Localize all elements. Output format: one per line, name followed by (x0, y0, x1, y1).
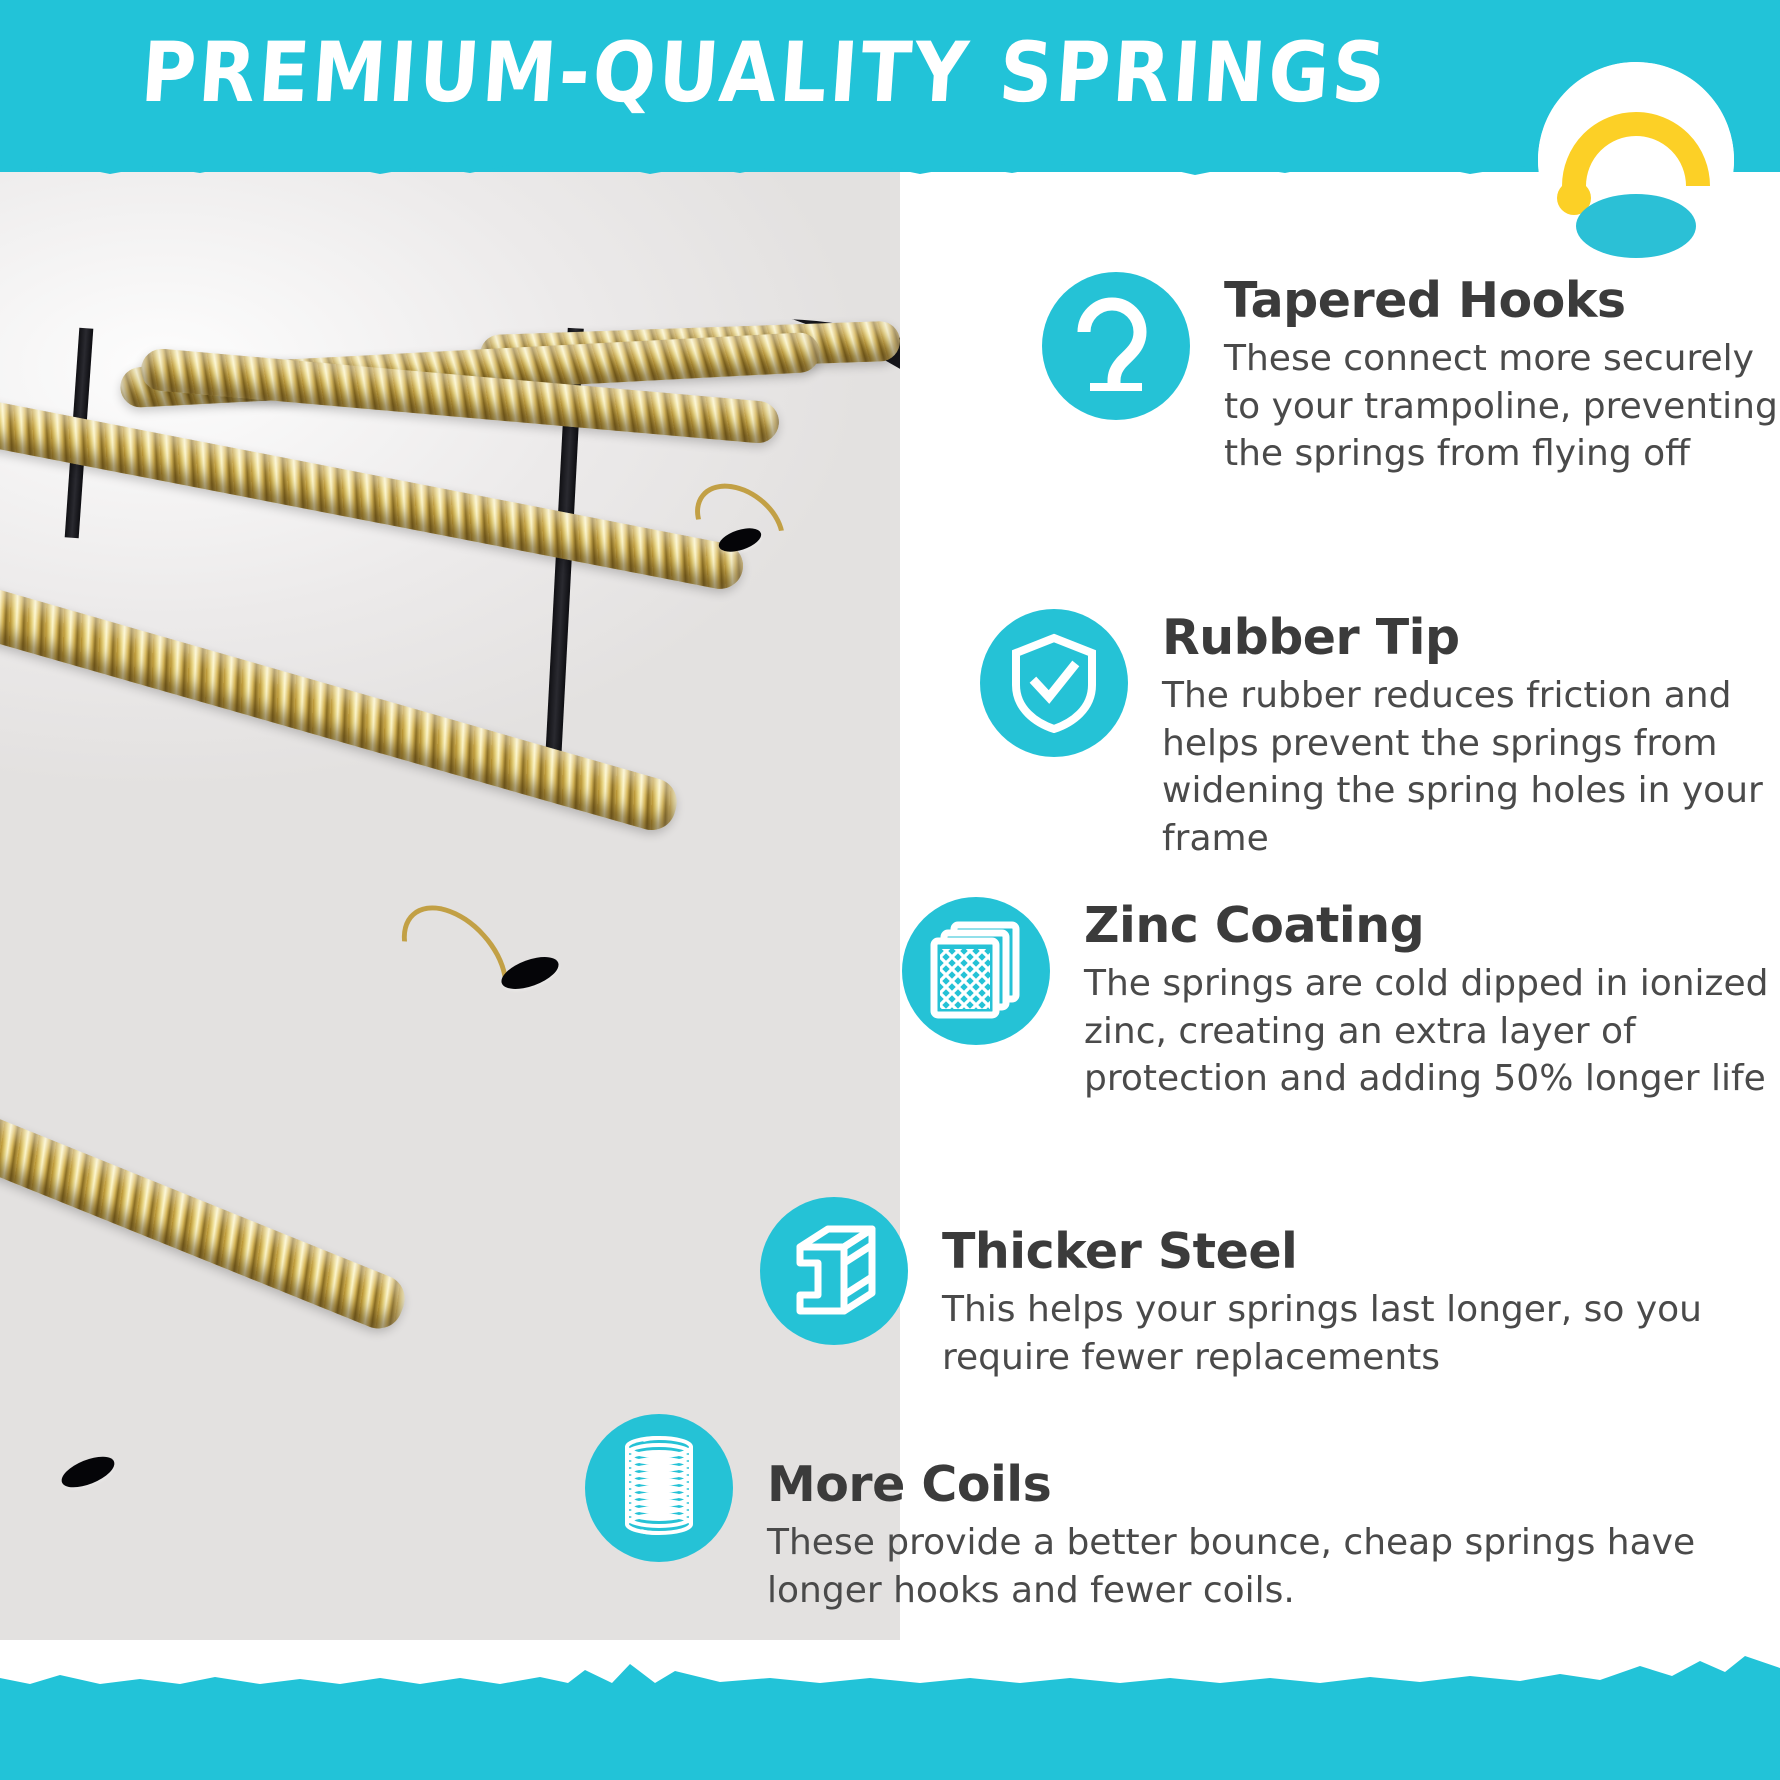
feature-description: These provide a better bounce, cheap spr… (767, 1519, 1780, 1614)
feature-title: More Coils (767, 1460, 1780, 1509)
feature-description: The rubber reduces friction and helps pr… (1162, 672, 1780, 862)
feature-item-thicker-steel: Thicker Steel This helps your springs la… (760, 1197, 1780, 1381)
feature-title: Tapered Hooks (1224, 276, 1780, 325)
sun-cloud-logo (1538, 62, 1734, 258)
feature-item-more-coils: More Coils These provide a better bounce… (585, 1414, 1780, 1614)
tapered-hook-icon (1042, 272, 1190, 420)
coil-spring-icon (585, 1414, 733, 1562)
feature-text: Zinc Coating The springs are cold dipped… (1084, 897, 1780, 1103)
bottom-banner (0, 1697, 1780, 1780)
feature-title: Zinc Coating (1084, 901, 1780, 950)
feature-text: Rubber Tip The rubber reduces friction a… (1162, 609, 1780, 862)
feature-title: Rubber Tip (1162, 613, 1780, 662)
feature-text: Tapered Hooks These connect more securel… (1224, 272, 1780, 478)
logo-mark (1538, 62, 1734, 258)
shield-check-icon (980, 609, 1128, 757)
i-beam-icon (760, 1197, 908, 1345)
feature-description: The springs are cold dipped in ionized z… (1084, 960, 1780, 1103)
feature-text: More Coils These provide a better bounce… (767, 1414, 1780, 1614)
page-title: PREMIUM-QUALITY SPRINGS (0, 25, 1533, 121)
feature-item-rubber-tip: Rubber Tip The rubber reduces friction a… (980, 609, 1780, 862)
zinc-sheets-icon (902, 897, 1050, 1045)
feature-title: Thicker Steel (942, 1227, 1780, 1276)
infographic-canvas: PREMIUM-QUALITY SPRINGS Tapered Hooks Th… (0, 0, 1780, 1780)
feature-description: This helps your springs last longer, so … (942, 1286, 1780, 1381)
feature-text: Thicker Steel This helps your springs la… (942, 1197, 1780, 1381)
feature-description: These connect more securely to your tram… (1224, 335, 1780, 478)
feature-item-tapered-hooks: Tapered Hooks These connect more securel… (1042, 272, 1780, 478)
banner-brush-edge (0, 160, 1780, 186)
feature-item-zinc-coating: Zinc Coating The springs are cold dipped… (902, 897, 1780, 1103)
